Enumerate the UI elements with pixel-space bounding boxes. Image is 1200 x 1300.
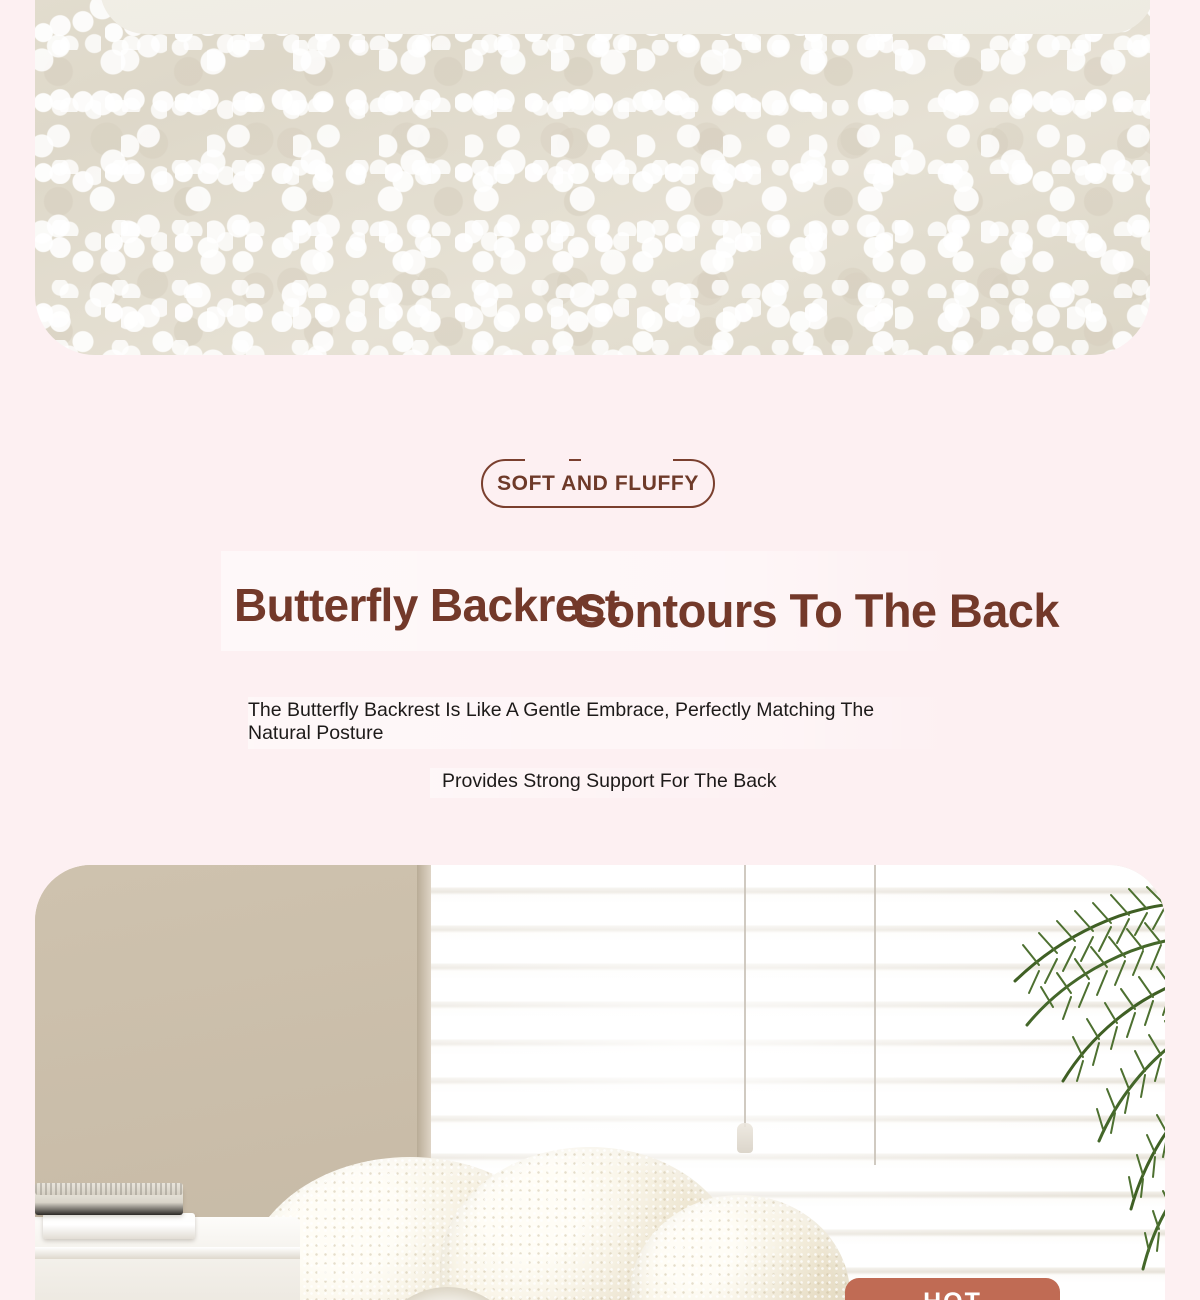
blind-cord-right — [874, 865, 876, 1165]
palm-plant — [885, 885, 1165, 1300]
feature-texture-panel: Flexible — [35, 0, 1150, 355]
butterfly-backrest-pillow-in-room-photo — [35, 865, 1165, 1300]
book-bottom — [43, 1213, 195, 1239]
blind-cord-left — [744, 865, 746, 1127]
book-top-cover — [35, 1183, 183, 1195]
section-badge-label: SOFT AND FLUFFY — [497, 472, 699, 496]
badge-notch-right — [581, 457, 673, 462]
page-title-part-two: Contours To The Back — [573, 583, 1059, 638]
description-subline: Provides Strong Support For The Back — [442, 770, 777, 793]
page-title-part-one: Butterfly Backrest — [234, 578, 619, 632]
badge-notch-left — [525, 457, 569, 462]
butterfly-backrest-pillow — [225, 1137, 845, 1300]
feature-card: Flexible — [100, 0, 1150, 34]
promo-badge-label: HOT — [923, 1288, 982, 1300]
description-paragraph: The Butterfly Backrest Is Like A Gentle … — [248, 699, 908, 745]
product-detail-page: Flexible — [0, 0, 1200, 1300]
side-table-edge — [35, 1247, 300, 1259]
section-badge-pill: SOFT AND FLUFFY — [481, 459, 715, 508]
section-badge: SOFT AND FLUFFY — [481, 459, 715, 508]
feature-grid: Flexible — [100, 0, 1150, 34]
promo-badge[interactable]: HOT — [845, 1278, 1060, 1300]
